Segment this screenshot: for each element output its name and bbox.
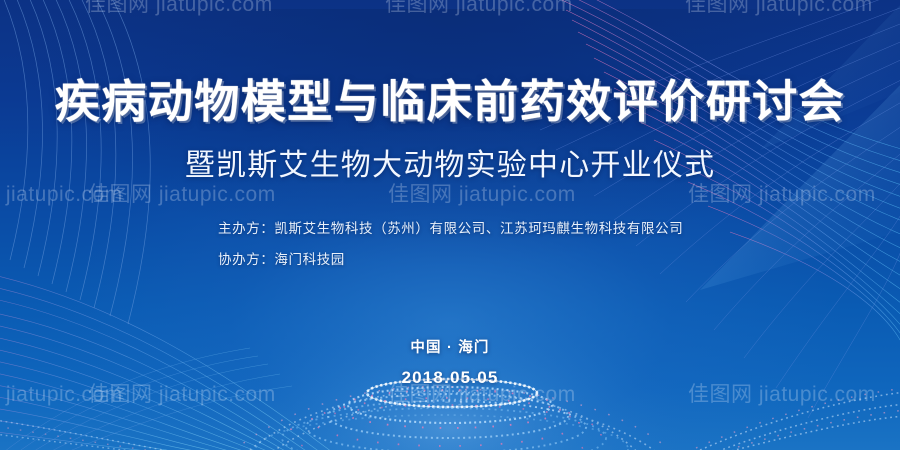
event-location: 中国 · 海门 <box>0 336 900 357</box>
page-subtitle: 暨凯斯艾生物大动物实验中心开业仪式 <box>0 151 900 181</box>
organizer-line: 主办方：凯斯艾生物科技（苏州）有限公司、江苏珂玛麒生物科技有限公司 <box>218 222 683 236</box>
organizer-block: 主办方：凯斯艾生物科技（苏州）有限公司、江苏珂玛麒生物科技有限公司 协办方：海门… <box>218 222 683 283</box>
co-organizer-line: 协办方：海门科技园 <box>218 253 683 267</box>
poster-text-content: 疾病动物模型与临床前药效评价研讨会 暨凯斯艾生物大动物实验中心开业仪式 主办方：… <box>0 0 900 450</box>
event-date: 2018.05.05 <box>0 368 900 388</box>
conference-poster: 疾病动物模型与临床前药效评价研讨会 暨凯斯艾生物大动物实验中心开业仪式 主办方：… <box>0 0 900 450</box>
page-title: 疾病动物模型与临床前药效评价研讨会 <box>0 79 900 124</box>
